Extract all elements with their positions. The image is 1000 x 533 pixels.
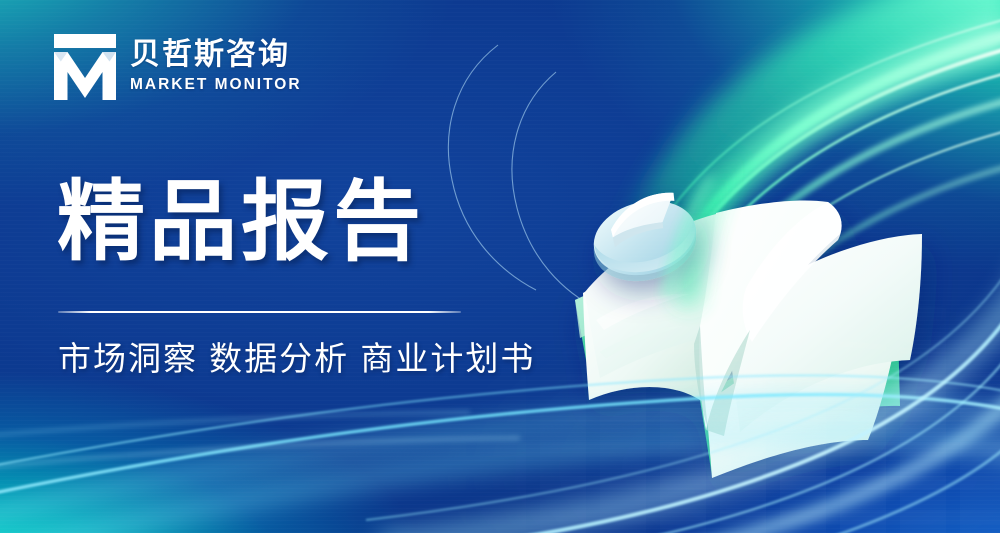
pie-chart-raised-slice bbox=[608, 192, 678, 242]
title-divider bbox=[58, 311, 461, 313]
brand-logo[interactable]: 贝哲斯咨询 MARKET MONITOR bbox=[54, 34, 302, 100]
pie-chart-base-shadow bbox=[586, 196, 704, 291]
green-light-trails bbox=[600, 0, 1000, 372]
pie-chart-disc bbox=[586, 190, 704, 291]
book-leaf-right bbox=[724, 234, 922, 432]
promo-banner: 贝哲斯咨询 MARKET MONITOR 精品报告 市场洞察 数据分析 商业计划… bbox=[0, 0, 1000, 533]
logo-wordmark: 贝哲斯咨询 MARKET MONITOR bbox=[130, 39, 302, 95]
book-page-edge-right bbox=[700, 330, 900, 476]
logo-english-name: MARKET MONITOR bbox=[130, 76, 302, 95]
book-page-left bbox=[583, 277, 706, 404]
left-soft-streaks bbox=[0, 412, 520, 468]
pie-chart-body bbox=[586, 190, 704, 285]
subtitle: 市场洞察 数据分析 商业计划书 bbox=[58, 332, 535, 380]
open-book bbox=[575, 200, 922, 478]
book-page-edge-left bbox=[575, 287, 700, 400]
book-page-right bbox=[706, 330, 898, 478]
book-green-emission bbox=[666, 150, 740, 306]
book-leaf-left-upper bbox=[585, 214, 744, 378]
market-monitor-m-logo-icon bbox=[54, 34, 116, 100]
page-title: 精品报告 bbox=[57, 176, 527, 268]
headline-block: 精品报告 bbox=[57, 176, 527, 268]
book-curled-page bbox=[699, 200, 841, 430]
pie-chart-side bbox=[594, 220, 702, 282]
logo-chinese-name: 贝哲斯咨询 bbox=[130, 39, 302, 71]
